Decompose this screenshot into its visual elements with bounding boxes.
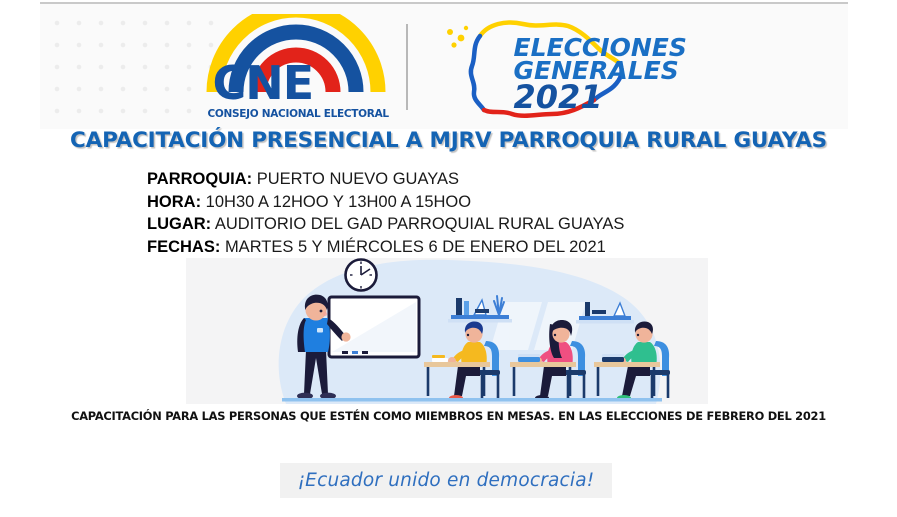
slogan-text: ¡Ecuador unido en democracia! [298, 470, 595, 491]
elecciones-generales-logo: ELECCIONES GENERALES 2021 [428, 14, 683, 120]
slogan-band: ¡Ecuador unido en democracia! [280, 463, 612, 498]
detail-label-hora: HORA: [147, 193, 201, 211]
event-details: PARROQUIA: PUERTO NUEVO GUAYAS HORA: 10H… [147, 168, 624, 258]
classroom-illustration [186, 258, 708, 404]
detail-value-hora: 10H30 A 12HOO Y 13H00 A 15HOO [206, 193, 471, 211]
detail-row-hora: HORA: 10H30 A 12HOO Y 13H00 A 15HOO [147, 191, 624, 214]
logo-divider [406, 24, 408, 110]
cne-subtitle: CONSEJO NACIONAL ELECTORAL [208, 108, 389, 120]
logo-row: CNE CONSEJO NACIONAL ELECTORAL ELEC [40, 4, 848, 129]
detail-row-lugar: LUGAR: AUDITORIO DEL GAD PARROQUIAL RURA… [147, 213, 624, 236]
cne-logo: CNE CONSEJO NACIONAL ELECTORAL [206, 14, 386, 120]
detail-row-fechas: FECHAS: MARTES 5 Y MIÉRCOLES 6 DE ENERO … [147, 236, 624, 259]
elections-year: 2021 [514, 83, 687, 112]
whiteboard-icon [329, 297, 419, 357]
detail-value-fechas: MARTES 5 Y MIÉRCOLES 6 DE ENERO DEL 2021 [225, 238, 606, 256]
detail-value-lugar: AUDITORIO DEL GAD PARROQUIAL RURAL GUAYA… [215, 215, 625, 233]
elecciones-generales-text: ELECCIONES GENERALES 2021 [514, 36, 687, 112]
classroom-scene-icon [186, 258, 708, 404]
caption-text: CAPACITACIÓN PARA LAS PERSONAS QUE ESTÉN… [0, 409, 897, 423]
detail-value-parroquia: PUERTO NUEVO GUAYAS [257, 170, 459, 188]
detail-label-lugar: LUGAR: [147, 215, 211, 233]
header-band: CNE CONSEJO NACIONAL ELECTORAL ELEC [40, 2, 848, 129]
detail-label-parroquia: PARROQUIA: [147, 170, 252, 188]
wall-clock-icon [346, 260, 377, 291]
page-title: CAPACITACIÓN PRESENCIAL A MJRV PARROQUIA… [0, 128, 897, 153]
detail-label-fechas: FECHAS: [147, 238, 220, 256]
detail-row-parroquia: PARROQUIA: PUERTO NUEVO GUAYAS [147, 168, 624, 191]
cne-letters: CNE [213, 56, 314, 110]
